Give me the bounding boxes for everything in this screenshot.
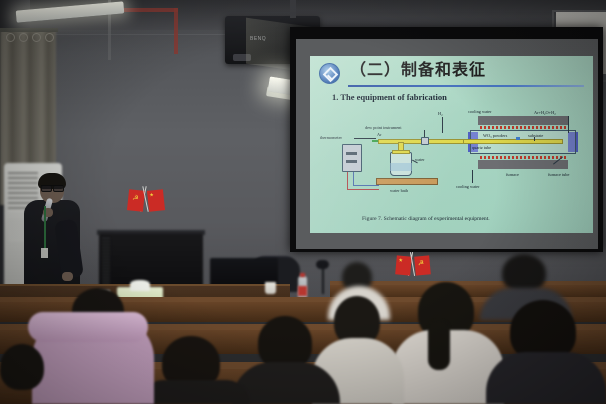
- ponytail-hair: [428, 320, 450, 370]
- water-bottle-cap: [300, 273, 305, 277]
- h2-inlet-line: [442, 117, 443, 133]
- projector-lens-icon: [233, 54, 251, 61]
- substrate-marker: [516, 137, 520, 140]
- heating-coil-top: [480, 126, 566, 129]
- projector-brand-label: BENQ: [250, 36, 266, 42]
- hammer-sickle-icon: ☭: [418, 260, 425, 268]
- label-cooling-water-bottom: cooling water: [456, 184, 480, 189]
- slide-title: （二）制备和表征: [350, 62, 486, 78]
- cvd-furnace-schematic: thermometer Ar water dew point instrumen…: [320, 108, 584, 213]
- glasses-bridge-icon: [41, 185, 63, 191]
- presenter-hand: [62, 272, 73, 281]
- water-bottle-label: [298, 286, 307, 296]
- star-icon: ★: [149, 193, 154, 198]
- water-bath: [376, 178, 438, 185]
- audience-head-back-2: [502, 254, 546, 292]
- label-cooling-water-top: cooling water: [468, 109, 492, 114]
- quartz-tube: [463, 139, 563, 144]
- label-h2-inlet: H₂: [438, 111, 443, 116]
- id-badge: [41, 248, 48, 258]
- leader-cooling-bottom: [472, 170, 473, 183]
- tissue-sheet: [130, 280, 150, 291]
- label-substrate: substrate: [528, 133, 543, 138]
- label-wo3-powders: WO₃ powders: [483, 133, 507, 138]
- audience-shoulders-front-center: [140, 380, 250, 404]
- red-pipe-vertical: [174, 8, 178, 54]
- microphone-stand: [322, 266, 324, 294]
- equipment-rack: [99, 233, 203, 291]
- party-flag: ☭: [127, 189, 145, 212]
- thermometer-unit: [342, 144, 362, 172]
- label-exhaust: Ar+H₂O+H₂: [534, 110, 556, 115]
- thermometer-display-1: [346, 152, 357, 155]
- curtain-ring: [32, 33, 41, 42]
- fur-collar: [28, 312, 148, 342]
- party-flag: ☭: [414, 255, 431, 275]
- label-thermometer: thermometer: [320, 135, 342, 140]
- bath-hose-blue: [353, 172, 354, 186]
- label-furnace: furnace: [506, 172, 519, 177]
- leader-substrate: [534, 137, 535, 141]
- bubbler-cap: [392, 150, 410, 154]
- audience-shoulders-right-front: [486, 352, 606, 404]
- equipment-rack-grill: [102, 238, 110, 286]
- national-flag: ★: [395, 255, 412, 275]
- dew-point-sensor: [421, 137, 429, 145]
- label-dew-point: dew point instrument: [365, 125, 402, 130]
- heating-coil-bottom: [480, 156, 566, 159]
- exhaust-line: [568, 116, 569, 133]
- paper-cup: [265, 282, 276, 294]
- slide-subtitle: 1. The equipment of fabrication: [332, 92, 447, 102]
- emblem-diamond-icon: [323, 67, 339, 83]
- projector-mount: [290, 0, 296, 18]
- label-water-bath: water bath: [390, 188, 408, 193]
- curtain-rod: [0, 28, 58, 32]
- label-quartz-tube: quartz tube: [472, 145, 491, 150]
- national-flag: ★: [147, 189, 165, 212]
- label-furnace-tube: furnace tube: [548, 172, 569, 177]
- bubbler-water: [390, 163, 412, 171]
- curtain-ring: [6, 33, 15, 42]
- hammer-sickle-icon: ☭: [132, 195, 139, 203]
- university-emblem-icon: [319, 63, 340, 84]
- figure-caption: Figure 7. Schematic diagram of experimen…: [362, 216, 490, 222]
- thermometer-display-2: [346, 160, 357, 163]
- slide-title-underline: [348, 85, 584, 87]
- star-icon: ★: [398, 259, 403, 264]
- lanyard: [44, 206, 46, 250]
- bath-hose-red: [347, 172, 348, 190]
- leader-thermometer: [354, 138, 376, 139]
- audience-head-far-left: [0, 344, 44, 390]
- lecture-hall-photo: BENQ （二）制备和表征 1. The equipment of fabric…: [0, 0, 606, 404]
- emblem-bar-icon: [327, 74, 333, 80]
- bath-hose-blue-h: [353, 185, 379, 186]
- furnace-block-top: [478, 116, 568, 125]
- curtain-ring: [19, 33, 28, 42]
- label-ar-inlet: Ar: [377, 132, 382, 137]
- bath-hose-red-h: [347, 189, 379, 190]
- curtain-ring: [45, 33, 54, 42]
- presentation-slide: （二）制备和表征 1. The equipment of fabrication…: [310, 56, 593, 233]
